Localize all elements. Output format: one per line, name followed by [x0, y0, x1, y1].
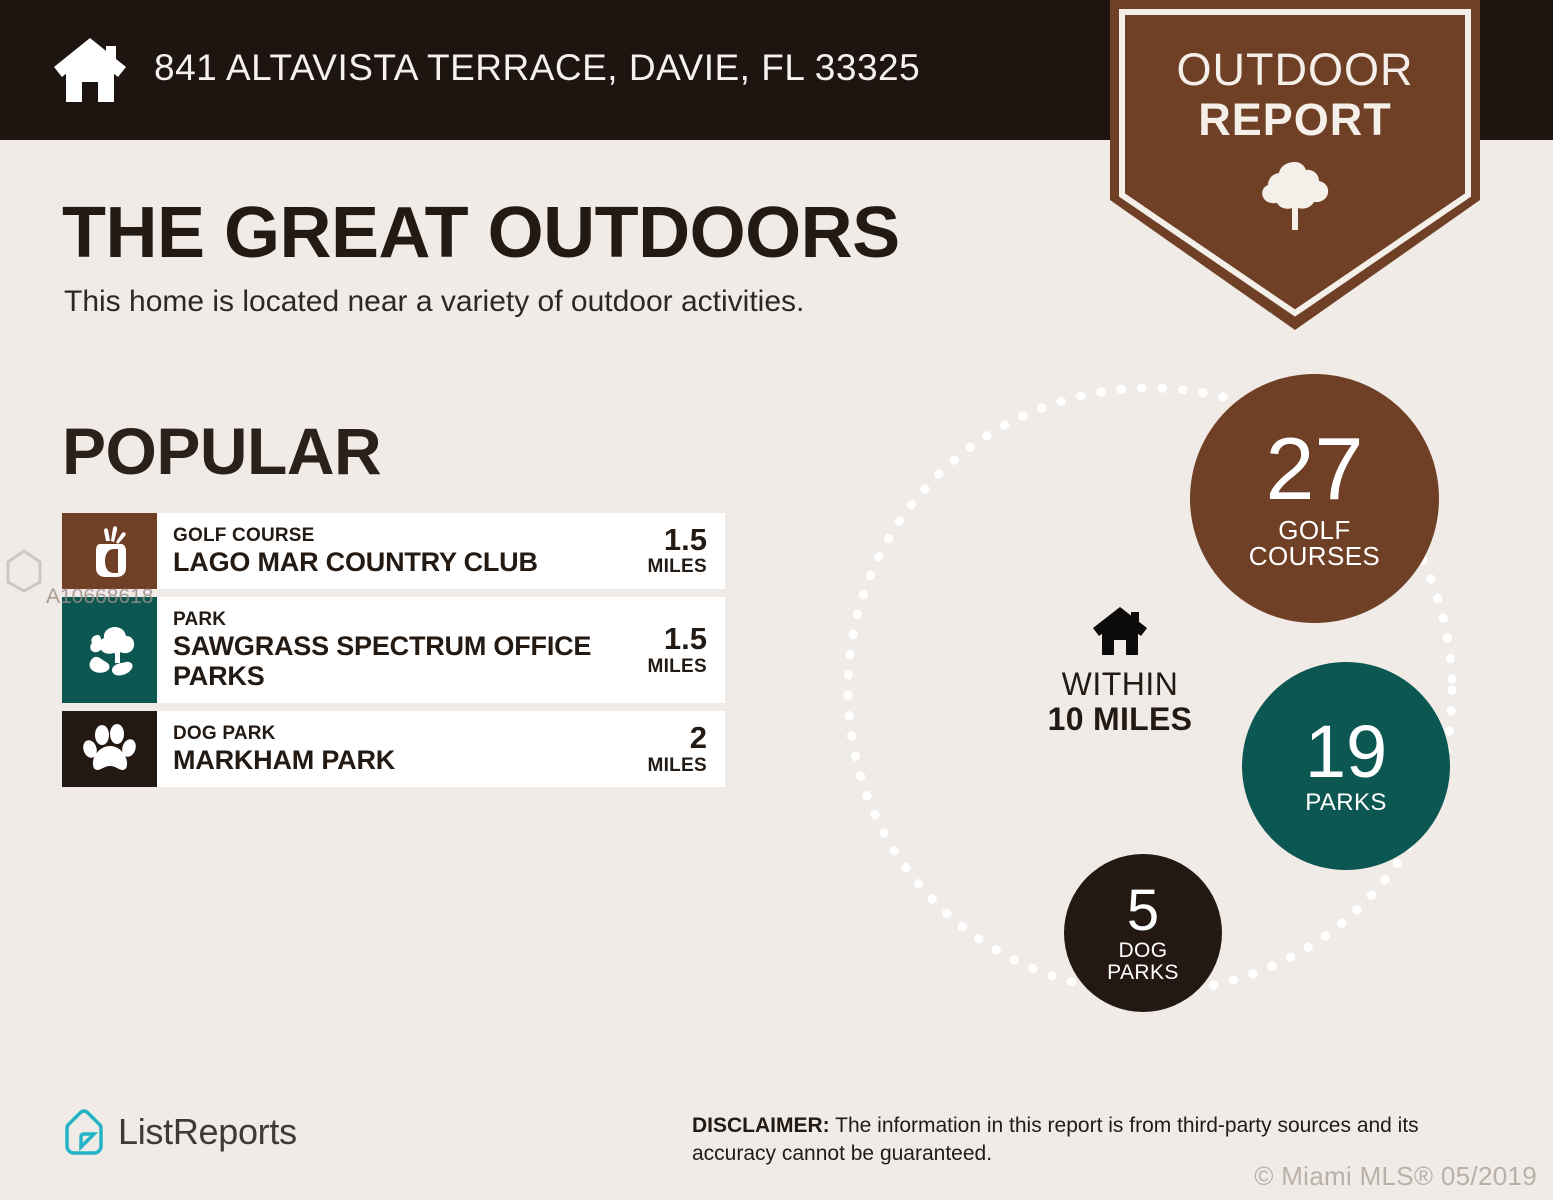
property-address: 841 ALTAVISTA TERRACE, DAVIE, FL 33325 [154, 47, 920, 89]
popular-heading: POPULAR [62, 413, 381, 489]
poi-icon-box [62, 513, 157, 589]
stat-value: 19 [1305, 717, 1387, 787]
stat-label-line1: GOLF [1249, 517, 1380, 544]
listreports-house-icon [62, 1108, 106, 1156]
stat-label: PARKS [1305, 791, 1387, 815]
outdoor-report-badge: OUTDOOR REPORT [1110, 0, 1480, 330]
poi-category: PARK [173, 609, 609, 631]
within-line2: 10 MILES [1020, 702, 1220, 738]
within-label-block: WITHIN 10 MILES [1020, 605, 1220, 737]
stat-label: GOLF COURSES [1249, 517, 1380, 570]
home-icon [1091, 605, 1149, 657]
poi-distance-unit: MILES [647, 656, 707, 678]
poi-distance-value: 2 [690, 722, 707, 755]
stat-label-line1: PARKS [1305, 791, 1387, 815]
stat-circle-dog-parks[interactable]: 5 DOG PARKS [1064, 854, 1222, 1012]
disclaimer-label: DISCLAIMER: [692, 1114, 830, 1137]
poi-name: SAWGRASS SPECTRUM OFFICE PARKS [173, 631, 609, 691]
tree-icon [1260, 160, 1330, 232]
listreports-wordmark: ListReports [118, 1111, 297, 1153]
stat-label-line2: PARKS [1107, 962, 1179, 983]
list-item[interactable]: PARK SAWGRASS SPECTRUM OFFICE PARKS 1.5 … [62, 597, 725, 703]
poi-name: LAGO MAR COUNTRY CLUB [173, 547, 609, 577]
poi-distance-value: 1.5 [664, 623, 707, 656]
stat-value: 27 [1266, 427, 1364, 511]
poi-category: DOG PARK [173, 723, 609, 745]
poi-text: PARK SAWGRASS SPECTRUM OFFICE PARKS [157, 597, 609, 703]
poi-distance-value: 1.5 [664, 524, 707, 557]
poi-name: MARKHAM PARK [173, 745, 609, 775]
golf-bag-icon [84, 523, 136, 579]
stat-circle-parks[interactable]: 19 PARKS [1242, 662, 1450, 870]
poi-text: DOG PARK MARKHAM PARK [157, 711, 609, 787]
list-item[interactable]: DOG PARK MARKHAM PARK 2 MILES [62, 711, 725, 787]
badge-title-line2: REPORT [1110, 94, 1480, 146]
poi-category: GOLF COURSE [173, 525, 609, 547]
within-radius-diagram: WITHIN 10 MILES 27 GOLF COURSES 19 PARKS… [820, 350, 1520, 1050]
mls-watermark: © Miami MLS® 05/2019 [1254, 1161, 1537, 1192]
stat-label: DOG PARKS [1107, 940, 1179, 983]
popular-list: GOLF COURSE LAGO MAR COUNTRY CLUB 1.5 MI… [62, 513, 725, 795]
listreports-logo[interactable]: ListReports [62, 1108, 297, 1156]
poi-text: GOLF COURSE LAGO MAR COUNTRY CLUB [157, 513, 609, 589]
poi-distance: 2 MILES [609, 711, 725, 787]
poi-distance-unit: MILES [647, 755, 707, 777]
park-tree-icon [81, 621, 139, 679]
list-item[interactable]: GOLF COURSE LAGO MAR COUNTRY CLUB 1.5 MI… [62, 513, 725, 589]
poi-distance: 1.5 MILES [609, 597, 725, 703]
paw-print-icon [82, 722, 138, 776]
poi-distance: 1.5 MILES [609, 513, 725, 589]
watermark-logo-icon [4, 548, 44, 593]
badge-title-line1: OUTDOOR [1110, 44, 1480, 96]
poi-icon-box [62, 597, 157, 703]
stat-circle-golf-courses[interactable]: 27 GOLF COURSES [1190, 374, 1439, 623]
poi-distance-unit: MILES [647, 556, 707, 578]
page-title: THE GREAT OUTDOORS [62, 192, 900, 274]
within-line1: WITHIN [1020, 667, 1220, 702]
stat-value: 5 [1127, 883, 1159, 938]
stat-label-line1: DOG [1107, 940, 1179, 961]
home-icon [52, 36, 128, 104]
stat-label-line2: COURSES [1249, 543, 1380, 570]
poi-icon-box [62, 711, 157, 787]
page-subtitle: This home is located near a variety of o… [64, 285, 804, 319]
